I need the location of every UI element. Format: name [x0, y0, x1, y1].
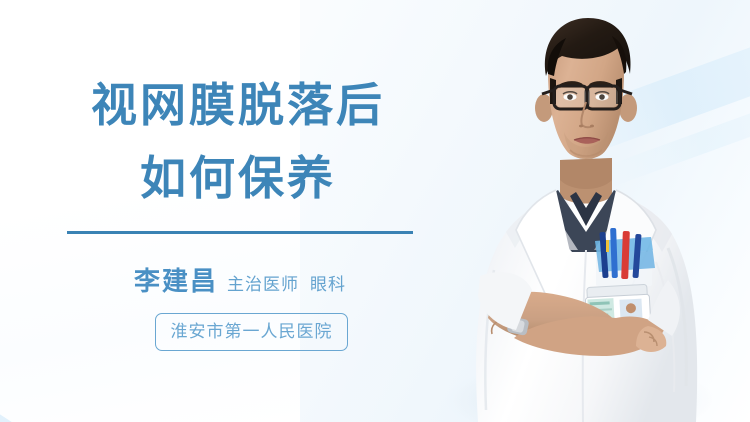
headline-divider: [67, 231, 413, 234]
hospital-badge: 淮安市第一人民医院: [155, 313, 348, 351]
doctor-name: 李建昌: [134, 266, 218, 296]
headline-line-2: 如何保养: [0, 155, 478, 201]
doctor-rank: 主治医师: [227, 275, 299, 294]
headline-line-1: 视网膜脱落后: [0, 82, 478, 128]
doctor-credentials-row: 李建昌主治医师眼科: [0, 261, 480, 298]
medical-topic-banner: 视网膜脱落后 如何保养 李建昌主治医师眼科 淮安市第一人民医院: [0, 0, 750, 422]
banner-text-block: 视网膜脱落后 如何保养 李建昌主治医师眼科 淮安市第一人民医院: [0, 0, 480, 422]
doctor-department: 眼科: [310, 275, 346, 294]
